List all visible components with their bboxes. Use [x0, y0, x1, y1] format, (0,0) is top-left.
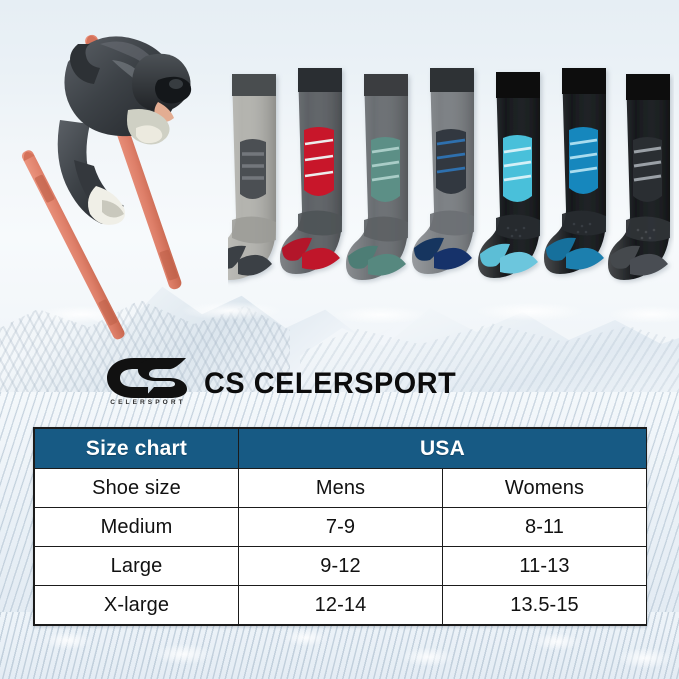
cell-womens: 8-11 [443, 508, 647, 547]
cell-size: Medium [35, 508, 239, 547]
cell-size: Large [35, 547, 239, 586]
cell-mens: 7-9 [239, 508, 443, 547]
table-row: X-large 12-14 13.5-15 [35, 586, 647, 625]
brand-wordmark: CS CELERSPORT [204, 367, 456, 401]
table-row: Medium 7-9 8-11 [35, 508, 647, 547]
column-shoe-size: Shoe size [35, 469, 239, 508]
table-column-labels: Shoe size Mens Womens [35, 469, 647, 508]
helmet [132, 54, 191, 112]
cell-mens: 12-14 [239, 586, 443, 625]
snow-mounds [0, 624, 679, 679]
cs-monogram-logo: CELERSPORT [104, 356, 190, 412]
cell-womens: 13.5-15 [443, 586, 647, 625]
table-row: Large 9-12 11-13 [35, 547, 647, 586]
skier-illustration [8, 10, 238, 340]
table-header-row: Size chart USA [35, 429, 647, 469]
logo-subtext: CELERSPORT [107, 399, 189, 406]
sock-blue [544, 68, 606, 274]
size-chart-table: Size chart USA Shoe size Mens Womens Med… [34, 428, 647, 625]
cell-mens: 9-12 [239, 547, 443, 586]
column-womens: Womens [443, 469, 647, 508]
sock-light-blue [478, 72, 540, 278]
sock-black-gray [608, 74, 670, 280]
header-size-chart: Size chart [35, 429, 239, 469]
sock-blue-gray [412, 68, 474, 274]
size-chart: Size chart USA Shoe size Mens Womens Med… [33, 427, 647, 626]
cs-logo-icon [104, 356, 190, 400]
product-image: CELERSPORT CS CELERSPORT Size chart USA … [0, 0, 679, 679]
cell-size: X-large [35, 586, 239, 625]
sock-lineup [228, 62, 674, 312]
sock-light-gray [228, 74, 276, 280]
brand-lockup: CELERSPORT CS CELERSPORT [104, 356, 467, 412]
column-mens: Mens [239, 469, 443, 508]
cell-womens: 11-13 [443, 547, 647, 586]
sock-teal [346, 74, 408, 280]
header-usa: USA [239, 429, 647, 469]
sock-red [280, 68, 342, 274]
